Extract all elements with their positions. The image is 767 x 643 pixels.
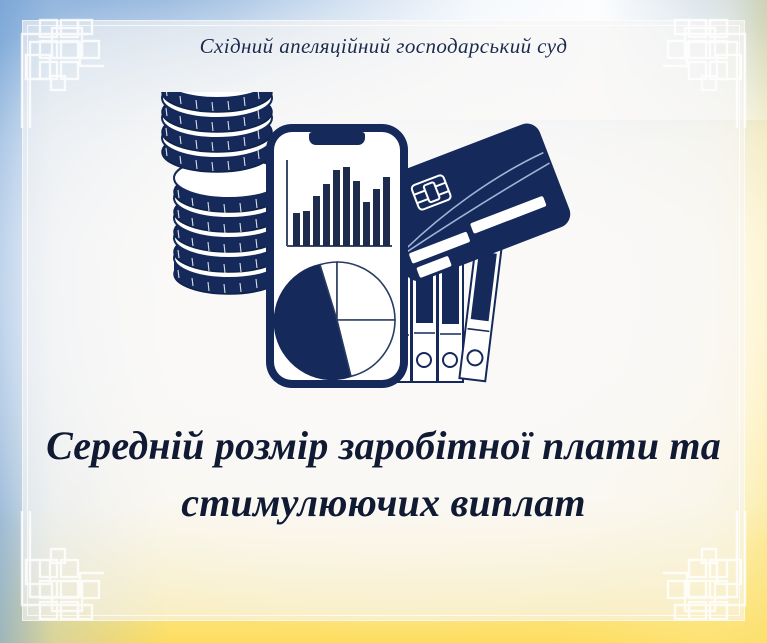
phone-notch <box>309 132 365 145</box>
phone-pie-chart <box>274 262 395 379</box>
page-title: Середній розмір заробітної плати та стим… <box>36 418 731 532</box>
page-title-line-2: стимулюючих виплат <box>36 475 731 532</box>
binder-4 <box>459 243 501 381</box>
poster-canvas: Східний апеляційний господарський суд <box>0 0 767 643</box>
court-name-heading: Східний апеляційний господарський суд <box>0 34 767 59</box>
page-title-line-1: Середній розмір заробітної плати та <box>36 418 731 475</box>
coin-stack <box>162 92 284 294</box>
illustration-svg <box>154 92 614 402</box>
smartphone <box>266 124 408 388</box>
finance-illustration <box>0 92 767 402</box>
coin-stack-upper <box>162 92 272 172</box>
